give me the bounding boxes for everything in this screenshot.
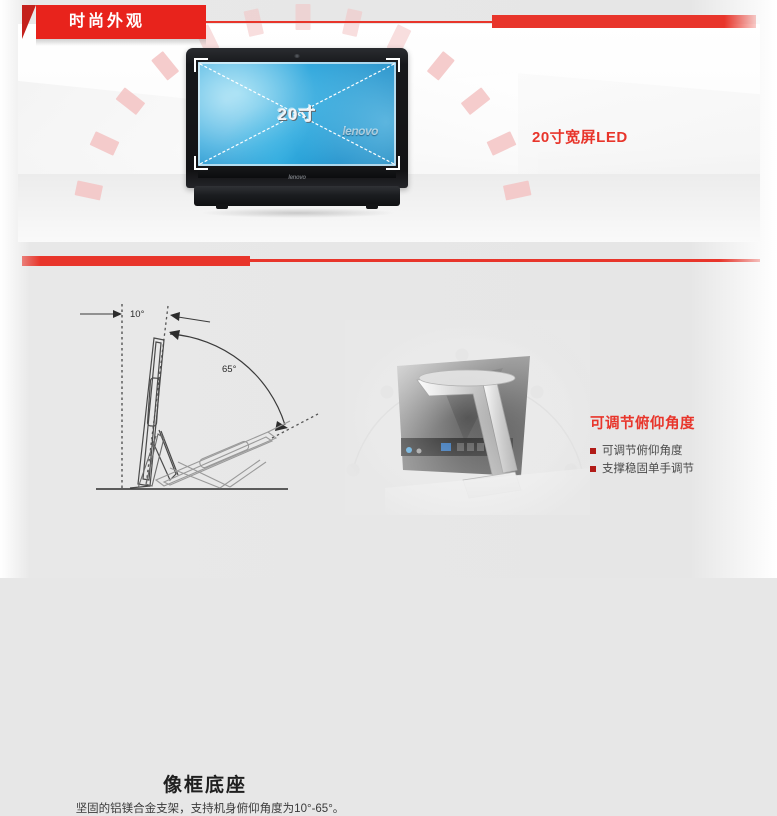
section-divider-thick: [22, 256, 250, 266]
chin-brand-label: lenovo: [288, 175, 306, 181]
monitor-base-bar: [194, 186, 400, 206]
ribbon-title: 时尚外观: [22, 5, 192, 39]
webcam-icon: [294, 54, 300, 58]
feature-item: 支撑稳固单手调节: [590, 460, 765, 478]
monitor-product-image: 20寸 lenovo lenovo: [186, 48, 408, 218]
feature-item: 可调节俯仰角度: [590, 442, 765, 460]
bullet-square-icon: [590, 466, 596, 472]
feature-block-title: 可调节俯仰角度: [590, 412, 765, 433]
feature-item-label: 可调节俯仰角度: [602, 442, 683, 460]
ribbon-shadow: [36, 39, 206, 46]
header-rule-thick: [492, 15, 756, 28]
screen-brand-watermark: lenovo: [342, 124, 378, 138]
monitor-drop-shadow: [200, 208, 396, 218]
arc-segment: [296, 4, 311, 30]
section-divider-thin: [250, 259, 760, 262]
screen-size-label: 20寸: [198, 100, 396, 125]
header-rule-thin: [192, 21, 492, 23]
feature-list-block: 可调节俯仰角度 可调节俯仰角度 支撑稳固单手调节: [590, 412, 765, 478]
page-root: 20寸 lenovo lenovo 20寸宽屏LED 时尚外观: [0, 0, 777, 578]
crop-corner-bottom-right: [386, 156, 400, 170]
stand-photo-illustration: [345, 320, 590, 515]
stand-title: 像框底座: [60, 770, 350, 797]
crop-corner-top-right: [386, 58, 400, 72]
crop-corner-bottom-left: [194, 156, 208, 170]
bullet-square-icon: [590, 448, 596, 454]
feature-item-label: 支撑稳固单手调节: [602, 460, 694, 478]
tilt-angle-diagram: 10° 65°: [60, 290, 350, 520]
feature-headline-led: 20寸宽屏LED: [532, 126, 628, 147]
stand-photo: [345, 320, 590, 515]
stand-caption: 坚固的铝镁合金支架，支持机身俯仰角度为10°-65°。: [0, 800, 420, 816]
crop-corner-top-left: [194, 58, 208, 72]
svg-text:10°: 10°: [130, 309, 145, 320]
monitor-chin: lenovo: [198, 166, 396, 178]
svg-text:65°: 65°: [222, 364, 237, 375]
monitor-body: 20寸 lenovo lenovo: [186, 48, 408, 188]
monitor-screen: 20寸 lenovo: [198, 62, 396, 166]
section-appearance: 20寸 lenovo lenovo 20寸宽屏LED 时尚外观: [0, 0, 777, 250]
